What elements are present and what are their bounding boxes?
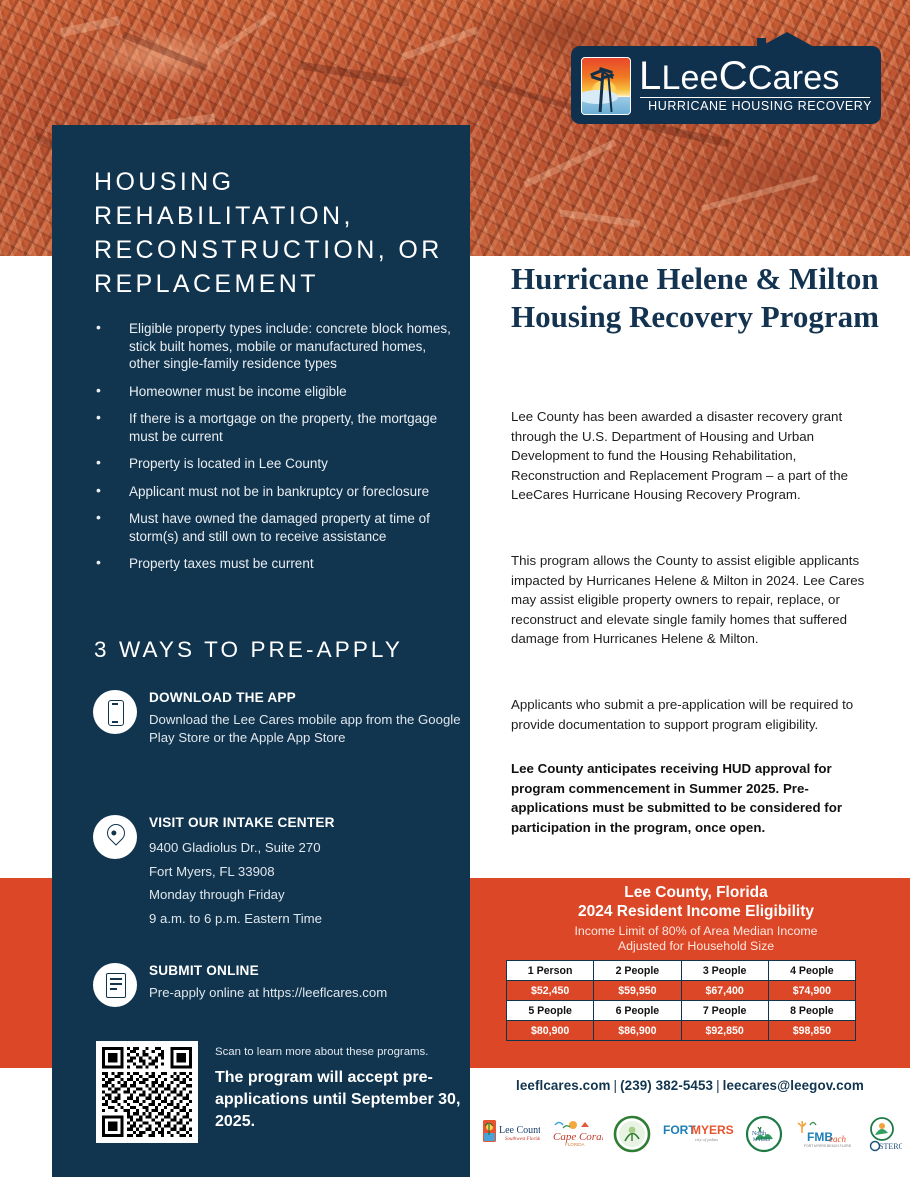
logo-divider	[640, 97, 870, 98]
eligibility-bullet-list: Eligible property types include: concret…	[93, 320, 455, 583]
qr-scan-note: Scan to learn more about these programs.	[215, 1046, 455, 1058]
income-value: $67,400	[681, 981, 768, 1001]
logo-word-cares: Cares	[748, 59, 840, 97]
income-title-line2: 2024 Resident Income Eligibility	[500, 902, 892, 921]
table-row: 5 People 6 People 7 People 8 People	[507, 1001, 856, 1021]
program-paragraph-1: Lee County has been awarded a disaster r…	[511, 407, 883, 505]
partner-logos: Lee County Southwest Florida Cape Coral …	[482, 1110, 902, 1158]
footer-separator-1: |	[611, 1078, 621, 1093]
program-paragraph-3: Applicants who submit a pre-application …	[511, 695, 883, 734]
income-value: $59,950	[594, 981, 681, 1001]
qr-code[interactable]	[96, 1041, 198, 1143]
footer-email[interactable]: leecares@leegov.com	[723, 1078, 864, 1093]
fort-myers-logo: FORT MYERS city of palms	[662, 1114, 734, 1154]
left-navy-panel: HOUSING REHABILITATION, RECONSTRUCTION, …	[52, 125, 470, 1177]
lee-county-logo: Lee County Southwest Florida	[482, 1114, 540, 1154]
household-label: 3 People	[681, 961, 768, 981]
svg-text:MYERS: MYERS	[691, 1123, 734, 1137]
intake-address-line: 9400 Gladiolus Dr., Suite 270	[149, 836, 463, 860]
intake-days-line: Monday through Friday	[149, 883, 463, 907]
sanibel-seal-logo	[613, 1114, 651, 1154]
household-label: 5 People	[507, 1001, 594, 1021]
household-label: 1 Person	[507, 961, 594, 981]
footer-separator-2: |	[713, 1078, 723, 1093]
preapply-method-submit-online: SUBMIT ONLINE Pre-apply online at https:…	[93, 963, 463, 1002]
estero-logo: STERO	[862, 1114, 902, 1154]
footer-phone[interactable]: (239) 382-5453	[620, 1078, 713, 1093]
footer-contact: leeflcares.com|(239) 382-5453|leecares@l…	[490, 1078, 890, 1093]
svg-text:North: North	[752, 1131, 766, 1137]
palm-sunset-icon	[581, 57, 631, 115]
flyer-page: LLeeCCares HURRICANE HOUSING RECOVERY HO…	[0, 0, 910, 1177]
household-label: 6 People	[594, 1001, 681, 1021]
preapply-method-download-app: DOWNLOAD THE APP Download the Lee Cares …	[93, 690, 463, 746]
program-title: Hurricane Helene & Milton Housing Recove…	[511, 260, 881, 336]
list-item: Property is located in Lee County	[93, 455, 455, 473]
svg-text:Lee County: Lee County	[499, 1125, 540, 1136]
income-value: $86,900	[594, 1021, 681, 1041]
method-heading: VISIT OUR INTAKE CENTER	[149, 815, 463, 830]
list-item: Eligible property types include: concret…	[93, 320, 455, 373]
north-fort-myers-logo: North MYERS	[745, 1114, 783, 1154]
household-label: 8 People	[768, 1001, 855, 1021]
svg-text:city of palms: city of palms	[695, 1137, 718, 1142]
ways-to-preapply-title: 3 WAYS TO PRE-APPLY	[94, 637, 454, 663]
list-item: Homeowner must be income eligible	[93, 383, 455, 401]
income-subtitle-line2: Adjusted for Household Size	[500, 939, 892, 954]
intake-city-line: Fort Myers, FL 33908	[149, 860, 463, 884]
leecares-logo: LLeeCCares HURRICANE HOUSING RECOVERY	[571, 32, 881, 124]
income-value: $92,850	[681, 1021, 768, 1041]
household-label: 4 People	[768, 961, 855, 981]
list-item: Applicant must not be in bankruptcy or f…	[93, 483, 455, 501]
income-value: $52,450	[507, 981, 594, 1001]
svg-text:Southwest Florida: Southwest Florida	[505, 1137, 540, 1142]
list-item: If there is a mortgage on the property, …	[93, 410, 455, 445]
household-label: 7 People	[681, 1001, 768, 1021]
income-value: $80,900	[507, 1021, 594, 1041]
mobile-phone-icon	[93, 690, 137, 734]
intake-hours-line: 9 a.m. to 6 p.m. Eastern Time	[149, 907, 463, 931]
program-paragraph-2: This program allows the County to assist…	[511, 551, 883, 649]
income-value: $98,850	[768, 1021, 855, 1041]
income-subtitle-line1: Income Limit of 80% of Area Median Incom…	[500, 924, 892, 939]
method-heading: SUBMIT ONLINE	[149, 963, 463, 978]
household-label: 2 People	[594, 961, 681, 981]
method-text[interactable]: Pre-apply online at https://leeflcares.c…	[149, 984, 463, 1002]
cape-coral-logo: Cape Coral FLORIDA	[551, 1114, 603, 1154]
table-row: 1 Person 2 People 3 People 4 People	[507, 961, 856, 981]
table-row: $52,450 $59,950 $67,400 $74,900	[507, 981, 856, 1001]
fort-myers-beach-logo: FMB each FORT MYERS BEACH FLORIDA	[793, 1114, 851, 1154]
logo-word-lee: Lee	[661, 59, 718, 97]
table-row: $80,900 $86,900 $92,850 $98,850	[507, 1021, 856, 1041]
svg-text:FLORIDA: FLORIDA	[565, 1142, 585, 1147]
qr-code-image	[102, 1047, 192, 1137]
map-pin-icon	[93, 815, 137, 859]
logo-wordmark: LLeeCCares	[639, 56, 871, 96]
logo-tagline: HURRICANE HOUSING RECOVERY	[640, 99, 872, 113]
program-paragraph-bold: Lee County anticipates receiving HUD app…	[511, 759, 883, 837]
preapply-method-intake-center: VISIT OUR INTAKE CENTER 9400 Gladiolus D…	[93, 815, 463, 930]
list-item: Property taxes must be current	[93, 555, 455, 573]
svg-text:MYERS: MYERS	[753, 1138, 770, 1143]
income-eligibility-table: 1 Person 2 People 3 People 4 People $52,…	[506, 960, 856, 1041]
svg-text:FORT MYERS BEACH FLORIDA: FORT MYERS BEACH FLORIDA	[804, 1144, 851, 1148]
deadline-text: The program will accept pre-applications…	[215, 1067, 465, 1133]
method-heading: DOWNLOAD THE APP	[149, 690, 463, 705]
footer-website[interactable]: leeflcares.com	[516, 1078, 610, 1093]
svg-text:each: each	[829, 1134, 846, 1144]
income-title-line1: Lee County, Florida	[500, 883, 892, 902]
method-text: Download the Lee Cares mobile app from t…	[149, 711, 463, 746]
svg-text:STERO: STERO	[879, 1142, 902, 1151]
list-item: Must have owned the damaged property at …	[93, 510, 455, 545]
document-form-icon	[93, 963, 137, 1007]
income-value: $74,900	[768, 981, 855, 1001]
income-subtitle: Income Limit of 80% of Area Median Incom…	[500, 924, 892, 954]
page-title: HOUSING REHABILITATION, RECONSTRUCTION, …	[94, 165, 450, 301]
